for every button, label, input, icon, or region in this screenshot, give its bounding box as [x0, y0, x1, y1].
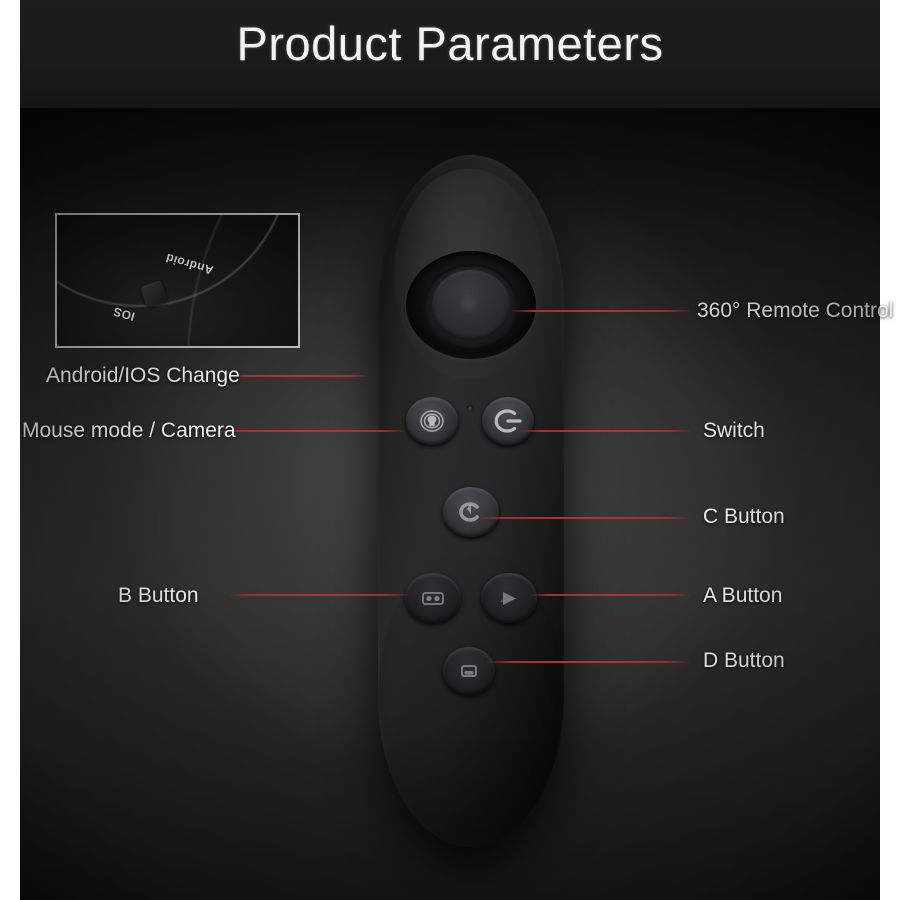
led-dot-icon [467, 405, 474, 412]
remote-controller-body [378, 155, 564, 847]
power-switch-button[interactable] [482, 397, 534, 445]
callout-label-a-button: A Button [703, 585, 782, 606]
callout-label-android-ios-change: Android/IOS Change [46, 365, 240, 386]
vr-glasses-icon [419, 586, 447, 610]
page-title: Product Parameters [0, 20, 900, 67]
callout-label-c-button: C Button [703, 506, 785, 527]
leader-line-c-button [478, 517, 690, 519]
mouse-camera-button[interactable] [406, 397, 458, 445]
b-button[interactable] [405, 573, 461, 623]
callout-label-mouse-mode-camera: Mouse mode / Camera [22, 420, 236, 441]
leader-line-remote-control [512, 310, 690, 312]
mouse-camera-icon [417, 407, 447, 435]
leader-line-android-ios-change [230, 375, 367, 377]
joystick-ring [424, 264, 518, 346]
a-button[interactable] [481, 573, 537, 623]
leader-line-mouse-mode-camera [215, 430, 405, 432]
callout-label-switch: Switch [703, 420, 765, 441]
play-triangle-icon [495, 586, 523, 610]
callout-label-remote-control: 360° Remote Control [697, 300, 893, 321]
screen-icon [456, 660, 482, 682]
callout-label-d-button: D Button [703, 650, 785, 671]
joystick-pad-icon[interactable] [432, 270, 510, 340]
product-parameters-infographic: Product Parameters IOS Android [0, 0, 900, 900]
d-button[interactable] [443, 647, 495, 695]
return-arrow-icon [456, 498, 486, 526]
callout-label-b-button: B Button [118, 585, 199, 606]
c-button[interactable] [443, 487, 499, 537]
leader-line-switch [520, 430, 690, 432]
leader-line-b-button [230, 594, 408, 596]
power-icon [493, 407, 523, 435]
leader-line-d-button [487, 661, 690, 663]
android-ios-closeup-inset: IOS Android [55, 213, 300, 348]
joystick-recess [406, 251, 536, 359]
leader-line-a-button [530, 594, 690, 596]
